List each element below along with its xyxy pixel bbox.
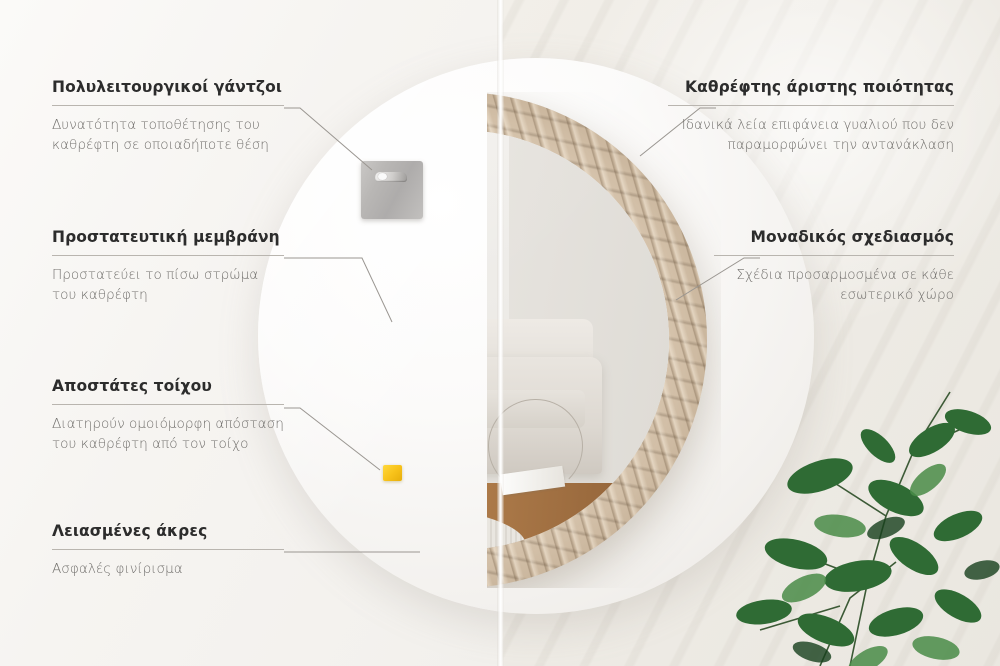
callout-rule bbox=[52, 105, 284, 106]
callout-rule bbox=[714, 255, 954, 256]
callout-rule bbox=[52, 255, 284, 256]
callout-spacers: Αποστάτες τοίχου Διατηρούν ομοιόμορφη απ… bbox=[52, 377, 284, 454]
callout-spacers-desc: Διατηρούν ομοιόμορφη απόσταση του καθρέφ… bbox=[52, 415, 284, 454]
callout-design-desc: Σχέδια προσαρμοσμένα σε κάθε εσωτερικό χ… bbox=[714, 266, 954, 305]
callout-hooks: Πολυλειτουργικοί γάντζοι Δυνατότητα τοπο… bbox=[52, 78, 284, 155]
callout-quality-title: Καθρέφτης άριστης ποιότητας bbox=[668, 78, 954, 96]
callout-quality: Καθρέφτης άριστης ποιότητας Ιδανικά λεία… bbox=[668, 78, 954, 155]
callout-spacers-title: Αποστάτες τοίχου bbox=[52, 377, 284, 395]
callout-edges-desc: Ασφαλές φινίρισμα bbox=[52, 560, 284, 580]
callout-design: Μοναδικός σχεδιασμός Σχέδια προσαρμοσμέν… bbox=[714, 228, 954, 305]
callout-quality-desc: Ιδανικά λεία επιφάνεια γυαλιού που δεν π… bbox=[668, 116, 954, 155]
callout-rule bbox=[52, 404, 284, 405]
callout-membrane-desc: Προστατεύει το πίσω στρώμα του καθρέφτη bbox=[52, 266, 284, 305]
callout-rule bbox=[668, 105, 954, 106]
callout-edges-title: Λειασμένες άκρες bbox=[52, 522, 284, 540]
callout-design-title: Μοναδικός σχεδιασμός bbox=[714, 228, 954, 246]
callout-hooks-desc: Δυνατότητα τοποθέτησης του καθρέφτη σε ο… bbox=[52, 116, 284, 155]
infographic-canvas: Πολυλειτουργικοί γάντζοι Δυνατότητα τοπο… bbox=[0, 0, 1000, 666]
callout-rule bbox=[52, 549, 284, 550]
callout-edges: Λειασμένες άκρες Ασφαλές φινίρισμα bbox=[52, 522, 284, 580]
callout-hooks-title: Πολυλειτουργικοί γάντζοι bbox=[52, 78, 284, 96]
callout-membrane: Προστατευτική μεμβράνη Προστατεύει το πί… bbox=[52, 228, 284, 305]
callout-membrane-title: Προστατευτική μεμβράνη bbox=[52, 228, 284, 246]
